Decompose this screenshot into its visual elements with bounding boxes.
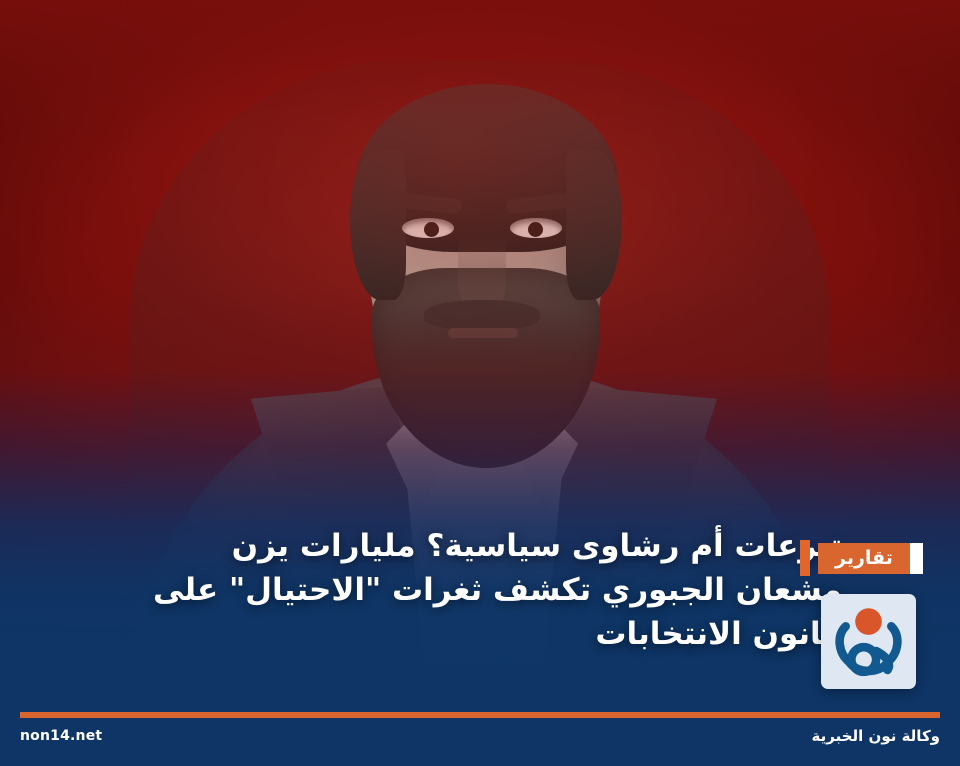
headline-line-1: تبرعات أم رشاوى سياسية؟ مليارات يزن	[62, 524, 842, 568]
non14-logo[interactable]	[821, 594, 916, 689]
category-badge-tip	[910, 543, 923, 574]
headline-accent-bar	[800, 540, 810, 576]
footer-accent-rule	[20, 712, 940, 718]
headline: تبرعات أم رشاوى سياسية؟ مليارات يزن مشعا…	[62, 524, 842, 656]
news-card: تبرعات أم رشاوى سياسية؟ مليارات يزن مشعا…	[0, 0, 960, 766]
headline-line-3: قانون الانتخابات	[62, 612, 842, 656]
footer-agency-name: وكالة نون الخبرية	[812, 727, 940, 745]
category-badge-label: تقارير	[818, 543, 910, 574]
logo-dot	[855, 608, 882, 635]
headline-line-2: مشعان الجبوري تكشف ثغرات "الاحتيال" على	[62, 568, 842, 612]
footer-bar: non14.net وكالة نون الخبرية	[0, 708, 960, 766]
category-badge[interactable]: تقارير	[818, 543, 923, 574]
footer-site-url[interactable]: non14.net	[20, 728, 102, 744]
